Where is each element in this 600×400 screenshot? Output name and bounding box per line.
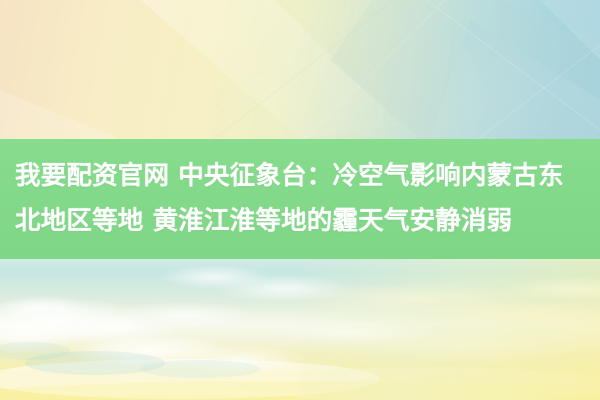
top-gradient-panel — [0, 0, 600, 139]
headline-line-2: 北地区等地 黄淮江淮等地的霾天气安静消弱 — [15, 199, 512, 244]
banner-image: 我要配资官网 中央征象台：冷空气影响内蒙古东 北地区等地 黄淮江淮等地的霾天气安… — [0, 0, 600, 400]
headline-line-1: 我要配资官网 中央征象台：冷空气影响内蒙古东 — [15, 154, 564, 199]
headline-banner: 我要配资官网 中央征象台：冷空气影响内蒙古东 北地区等地 黄淮江淮等地的霾天气安… — [0, 139, 600, 259]
headline-text-block: 我要配资官网 中央征象台：冷空气影响内蒙古东 北地区等地 黄淮江淮等地的霾天气安… — [15, 139, 585, 259]
polygon-facets — [0, 0, 600, 139]
warm-overlay — [300, 259, 600, 400]
bottom-sky-panel — [0, 259, 600, 400]
